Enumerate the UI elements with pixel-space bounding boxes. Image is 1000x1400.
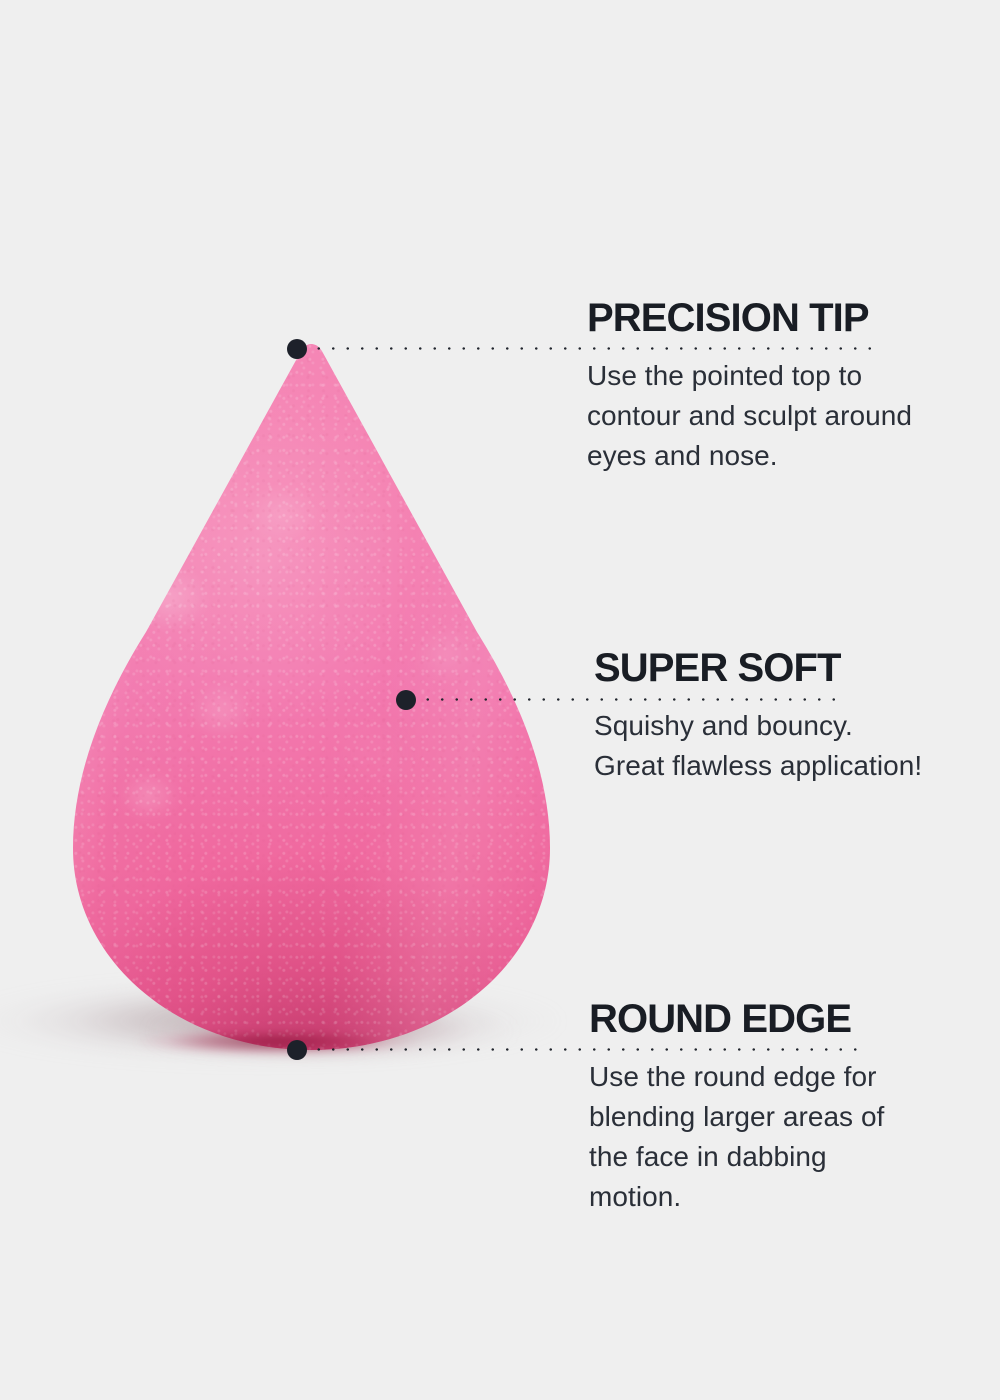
leader-dot <box>287 339 307 359</box>
callout-title: PRECISION TIP <box>587 298 917 339</box>
leader-dot <box>396 690 416 710</box>
product-feature-poster: PRECISION TIP Use the pointed top to con… <box>0 0 1000 1400</box>
callout-round-edge: ROUND EDGE Use the round edge for blendi… <box>589 999 919 1217</box>
leader-dot <box>287 1040 307 1060</box>
callout-title: ROUND EDGE <box>589 999 919 1040</box>
callout-precision-tip: PRECISION TIP Use the pointed top to con… <box>587 298 917 476</box>
callout-body: Squishy and bouncy. Great flawless appli… <box>594 706 924 786</box>
callout-body: Use the round edge for blending larger a… <box>589 1057 919 1217</box>
sponge-contact-shadow <box>132 1028 422 1058</box>
callout-super-soft: SUPER SOFT Squishy and bouncy. Great fla… <box>594 648 924 786</box>
callout-body: Use the pointed top to contour and sculp… <box>587 356 917 476</box>
callout-title: SUPER SOFT <box>594 648 924 689</box>
